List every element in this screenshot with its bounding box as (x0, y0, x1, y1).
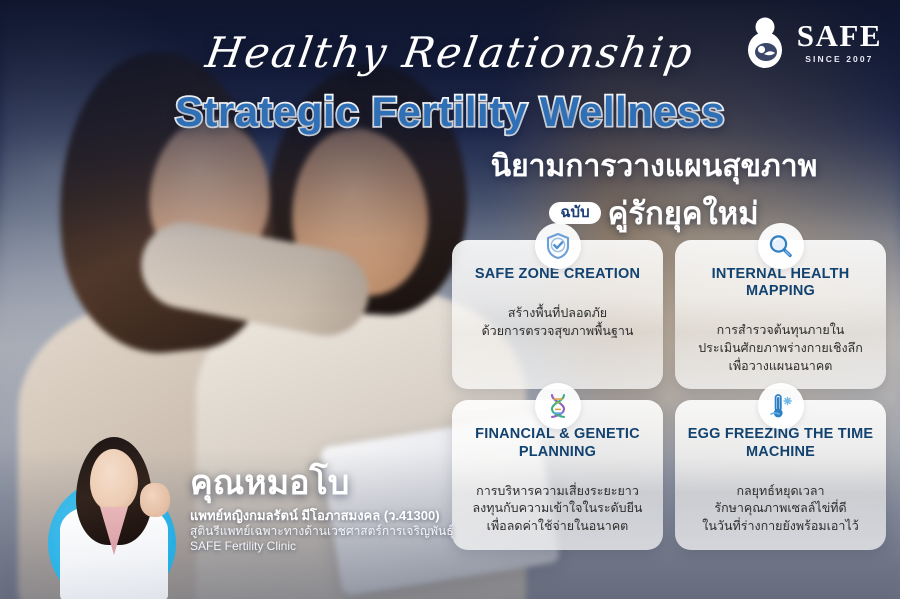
card-body-line: สร้างพื้นที่ปลอดภัย (460, 305, 655, 323)
card-body: การสำรวจต้นทุนภายใน ประเมินศักยภาพร่างกา… (683, 322, 878, 375)
card-body-line: ด้วยการตรวจสุขภาพพื้นฐาน (460, 323, 655, 341)
script-headline: Healthy Relationship (0, 28, 900, 77)
card-body: การบริหารความเสี่ยงระยะยาว ลงทุนกับความเ… (460, 483, 655, 536)
card-body-line: การบริหารความเสี่ยงระยะยาว (460, 483, 655, 501)
card-body-line: เพื่อวางแผนอนาคต (683, 358, 878, 376)
card-title: INTERNAL HEALTH MAPPING (683, 266, 878, 300)
card-title: EGG FREEZING THE TIME MACHINE (683, 426, 878, 460)
thai-headline-line1: นิยามการวางแผนสุขภาพ (444, 150, 864, 184)
magnifier-icon (758, 223, 804, 269)
feature-card-safe-zone[interactable]: SAFE ZONE CREATION สร้างพื้นที่ปลอดภัย ด… (452, 240, 663, 389)
doctor-profile: คุณหมอโบ แพทย์หญิงกมลรัตน์ มีโอภาสมงคล (… (40, 423, 460, 599)
doctor-credential: แพทย์หญิงกมลรัตน์ มีโอภาสมงคล (ว.41300) (190, 508, 454, 524)
doctor-face (90, 449, 138, 511)
thai-headline: นิยามการวางแผนสุขภาพ ฉบับ คู่รักยุคใหม่ (444, 150, 864, 238)
dna-helix-icon (535, 383, 581, 429)
card-body: กลยุทธ์หยุดเวลา รักษาคุณภาพเซลล์ไข่ที่ดี… (683, 483, 878, 536)
feature-card-financial-genetic-planning[interactable]: FINANCIAL & GENETIC PLANNING การบริหารคว… (452, 400, 663, 549)
feature-card-internal-health-mapping[interactable]: INTERNAL HEALTH MAPPING การสำรวจต้นทุนภา… (675, 240, 886, 389)
page-title: Strategic Fertility Wellness (0, 88, 900, 136)
card-body-line: ประเมินศักยภาพร่างกายเชิงลึก (683, 340, 878, 358)
card-body-line: รักษาคุณภาพเซลล์ไข่ที่ดี (683, 500, 878, 518)
card-body-line: ลงทุนกับความเข้าใจในระดับยีน (460, 500, 655, 518)
card-body-line: การสำรวจต้นทุนภายใน (683, 322, 878, 340)
edition-pill: ฉบับ (549, 202, 600, 224)
thai-headline-emphasis: คู่รักยุคใหม่ (608, 188, 759, 238)
card-body: สร้างพื้นที่ปลอดภัย ด้วยการตรวจสุขภาพพื้… (460, 305, 655, 341)
shield-check-icon (535, 223, 581, 269)
feature-card-grid: SAFE ZONE CREATION สร้างพื้นที่ปลอดภัย ด… (452, 240, 886, 550)
doctor-hand (140, 483, 170, 517)
thai-headline-line2: ฉบับ คู่รักยุคใหม่ (444, 188, 864, 238)
doctor-specialty: สูตินรีแพทย์เฉพาะทางด้านเวชศาสตร์การเจริ… (190, 524, 454, 540)
card-divider (683, 300, 878, 322)
card-body-line: กลยุทธ์หยุดเวลา (683, 483, 878, 501)
card-body-line: เพื่อลดค่าใช้จ่ายในอนาคต (460, 518, 655, 536)
feature-card-egg-freezing[interactable]: EGG FREEZING THE TIME MACHINE กลยุทธ์หยุ… (675, 400, 886, 549)
card-title: FINANCIAL & GENETIC PLANNING (460, 426, 655, 460)
poster-canvas: SAFE SINCE 2007 Healthy Relationship Str… (0, 0, 900, 599)
doctor-nickname: คุณหมอโบ (190, 466, 454, 500)
card-divider (460, 283, 655, 305)
doctor-photo (54, 431, 172, 599)
card-divider (683, 461, 878, 483)
doctor-details: คุณหมอโบ แพทย์หญิงกมลรัตน์ มีโอภาสมงคล (… (190, 466, 454, 555)
card-divider (460, 461, 655, 483)
doctor-clinic: SAFE Fertility Clinic (190, 539, 454, 555)
thermometer-snowflake-icon (758, 383, 804, 429)
card-body-line: ในวันที่ร่างกายยังพร้อมเอาไว้ (683, 518, 878, 536)
